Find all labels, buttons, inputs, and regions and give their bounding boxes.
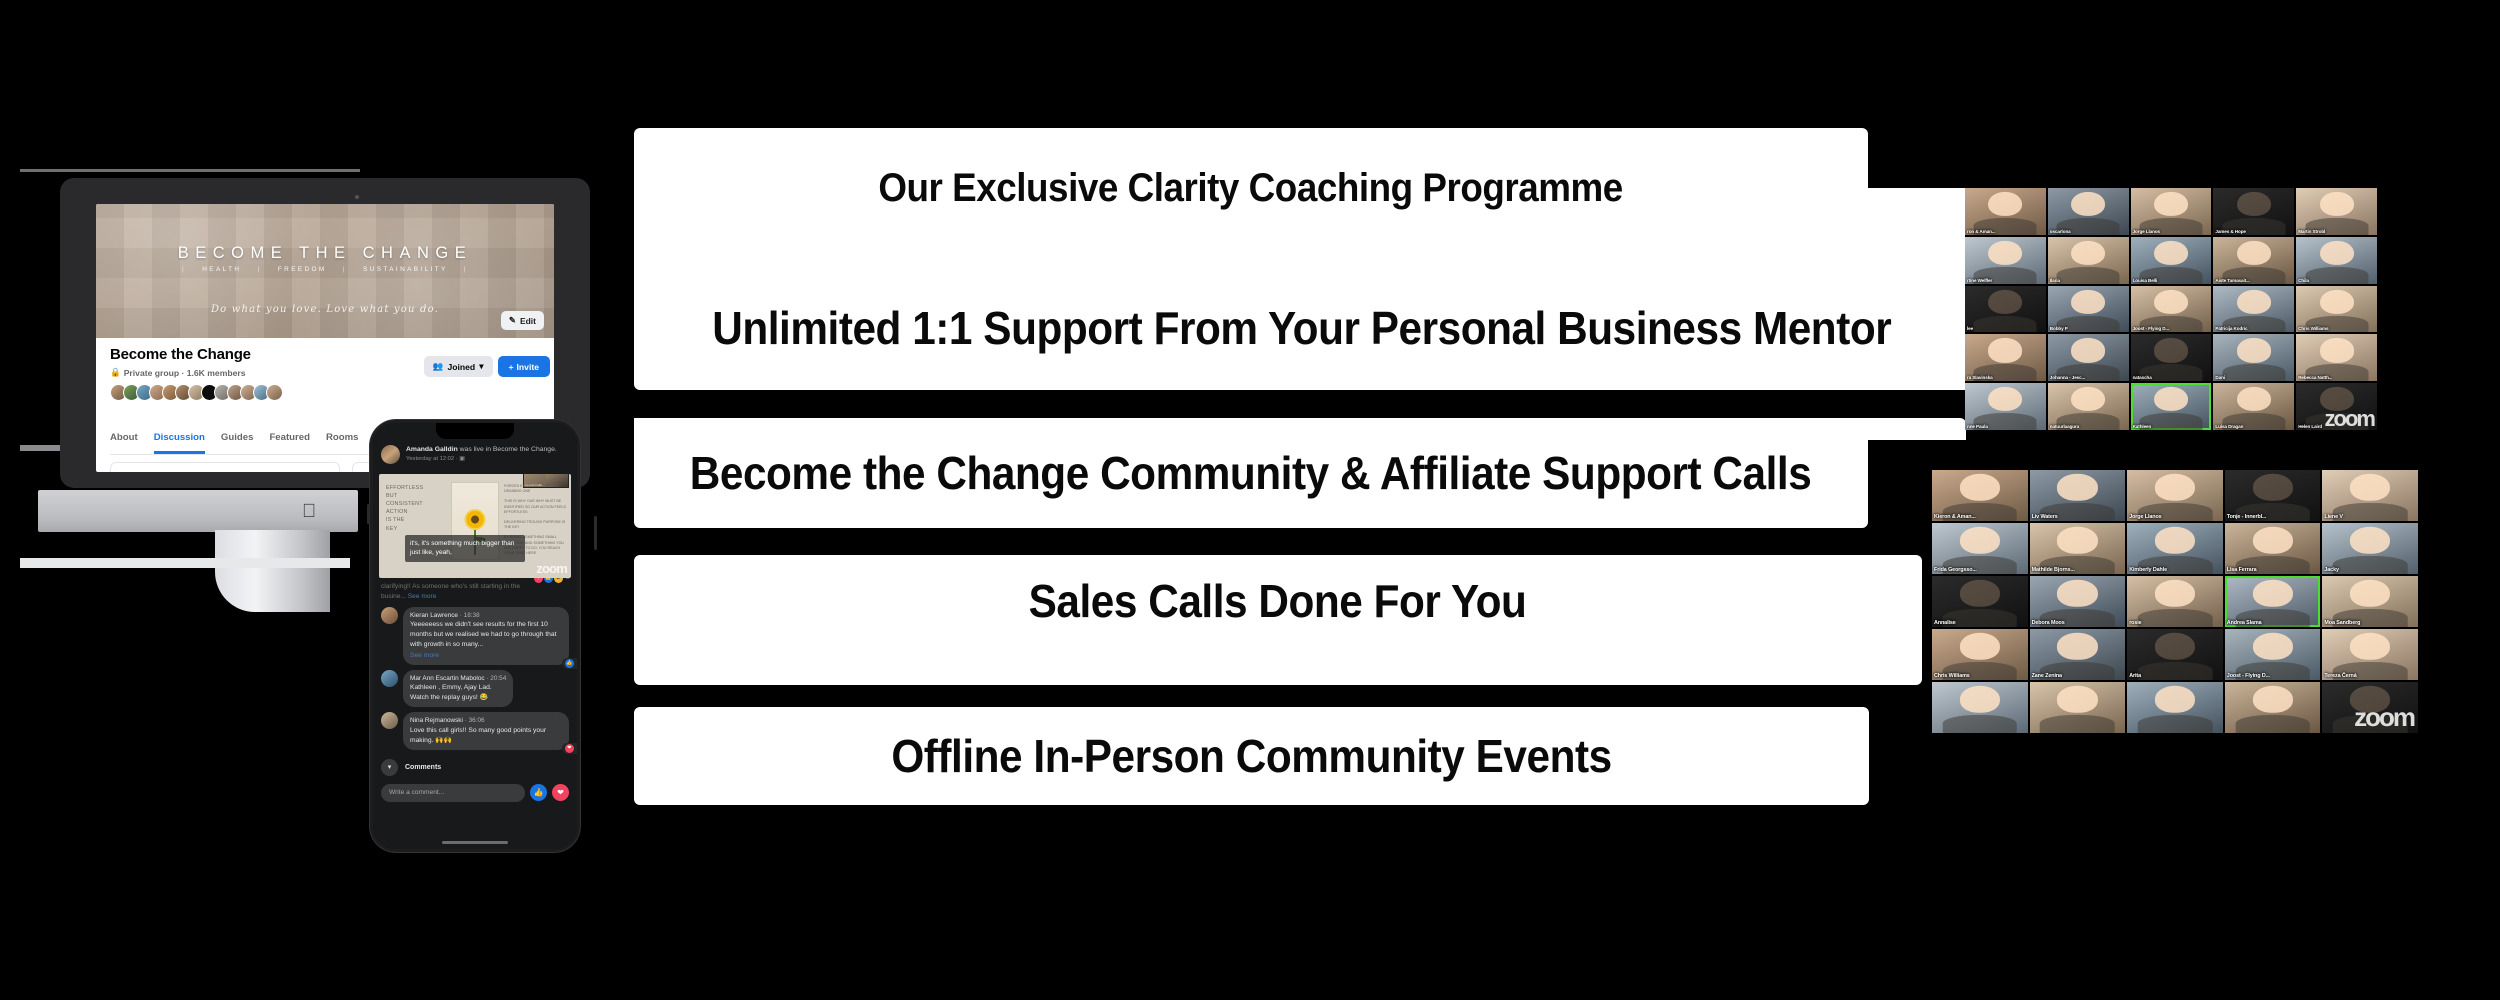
participant-video (1960, 474, 2000, 501)
zoom-participant-tile[interactable]: Frida Georgsso... (1932, 523, 2028, 574)
zoom-participant-tile[interactable]: Lisa Ferrara (2225, 523, 2321, 574)
feature-card-3-label: Become the Change Community & Affiliate … (690, 446, 1812, 500)
edit-cover-button[interactable]: ✎ Edit (501, 311, 544, 330)
zoom-participant-tile[interactable]: Moa Sandberg (2322, 576, 2418, 627)
power-button[interactable] (594, 516, 597, 550)
participant-name: Andrea Slama (2227, 620, 2262, 626)
joined-label: Joined (447, 362, 475, 372)
participant-torso (1974, 316, 2037, 333)
participant-video (2253, 580, 2293, 607)
participant-name: Debora Moos (2032, 620, 2065, 626)
participant-video (2320, 289, 2354, 313)
participant-video (1988, 387, 2022, 411)
reaction-pill[interactable]: 👍2 (562, 658, 577, 669)
zoom-participant-tile[interactable]: oscarlona (2048, 188, 2129, 235)
avatar[interactable] (381, 607, 398, 624)
participant-torso (2138, 662, 2213, 680)
zoom-participant-tile[interactable]: Kieron & Aman... (1932, 470, 2028, 521)
participant-video (2057, 580, 2097, 607)
zoom-participant-tile[interactable]: ra Slavinska (1965, 334, 2046, 381)
reaction-pill[interactable]: ❤1 (562, 743, 577, 754)
participant-name: James & Hope (2215, 229, 2245, 234)
participant-video (1988, 289, 2022, 313)
participant-video (2071, 192, 2105, 216)
comment-text: Yeeeeeess we didn't see results for the … (410, 620, 562, 650)
heart-icon[interactable]: ❤ (552, 784, 569, 801)
post-composer[interactable] (110, 462, 340, 472)
comment-item: Kieran Lawrence · 18:38 Yeeeeeess we did… (373, 602, 577, 665)
participant-video (2057, 686, 2097, 713)
participant-name: Joost - Flying D... (2227, 673, 2270, 679)
post-video[interactable]: Amanda Galld... EFFORTLESS BUT CONSISTEN… (379, 474, 571, 578)
comment-composer: Write a comment... 👍 ❤ (373, 780, 577, 806)
volume-button[interactable] (367, 504, 370, 524)
feature-card-3-textwrap: Become the Change Community & Affiliate … (634, 418, 1868, 528)
video-caption: it's, it's something much bigger than ju… (405, 535, 525, 562)
promo-composite: BECOME THE CHANGE | HEALTH | FREEDOM | S… (0, 0, 2500, 1000)
divider: | (182, 266, 186, 273)
comment-time: · 18:38 (460, 612, 480, 619)
zoom-participant-tile[interactable]: natuurlaagura (2048, 383, 2129, 430)
zoom-participant-tile[interactable]: Luisa Dragan (2213, 383, 2294, 430)
see-more-link[interactable]: See more (408, 593, 437, 600)
zoom-participant-tile[interactable] (2127, 682, 2223, 733)
zoom-watermark: zoom (536, 561, 567, 576)
zoom-participant-tile[interactable]: Chila (2296, 237, 2377, 284)
participant-name: Rebecca Natth... (2298, 375, 2332, 380)
participant-name: Ilaria (2050, 278, 2060, 283)
zoom-participant-tile[interactable]: rtine Welfler (1965, 237, 2046, 284)
participant-video (2057, 527, 2097, 554)
participant-video (2253, 686, 2293, 713)
avatar[interactable] (381, 670, 398, 687)
zoom-participant-tile[interactable]: Patricija Kodric (2213, 286, 2294, 333)
zoom-participant-tile[interactable]: Debora Moos (2030, 576, 2126, 627)
zoom-participant-tile[interactable] (2225, 682, 2321, 733)
zoom-grid-bottom: Kieron & Aman...Liv WatersJorge LlanosTo… (1932, 470, 2418, 733)
avatar[interactable] (381, 712, 398, 729)
divider: | (343, 266, 347, 273)
zoom-participant-tile[interactable]: Jorge Llanos (2127, 470, 2223, 521)
participant-name: lee (1967, 326, 1973, 331)
participant-video (1960, 580, 2000, 607)
slide-right-line-1: THIS IS WHY OUR WHY MUST BE IDENTIFIED S… (504, 499, 566, 515)
post-action: was live in Become the Change. (458, 446, 557, 453)
tab-about[interactable]: About (110, 432, 138, 454)
facebook-post-screen: Amanda Galldin was live in Become the Ch… (373, 423, 577, 849)
participant-name: Annalise (1934, 620, 1956, 626)
zoom-participant-tile[interactable]: nne Paula (1965, 383, 2046, 430)
participant-video (2155, 686, 2195, 713)
zoom-participant-tile[interactable]: Liv Waters (2030, 470, 2126, 521)
slide-right-line-0: FORCED ENERGY IS THE MOST DRAINING ONE (504, 484, 566, 494)
zoom-watermark: zoom (2354, 702, 2414, 733)
participant-video (2350, 633, 2390, 660)
people-icon: 👥 (433, 361, 444, 372)
participant-name: Tereza Černá (2324, 673, 2356, 679)
participant-name: natascha (2133, 375, 2152, 380)
participant-video (2320, 338, 2354, 362)
cover-pillar-2: SUSTAINABILITY (363, 266, 448, 273)
participant-name: Jorge Llanos (2129, 514, 2161, 520)
cover-pillar-0: HEALTH (202, 266, 241, 273)
lock-icon: 🔒 (110, 367, 121, 378)
divider: | (258, 266, 262, 273)
apple-logo-icon:  (302, 502, 316, 521)
post-time-text: Yesterday at 12:02 · (406, 456, 458, 462)
participant-name: ron & Aman... (1967, 229, 1995, 234)
participant-video (2057, 633, 2097, 660)
cover-tagline: Do what you love. Love what you do. (96, 304, 554, 315)
zoom-participant-tile[interactable]: Arita (2127, 629, 2223, 680)
feature-card-5-textwrap: Offline In-Person Community Events (634, 707, 1869, 805)
participant-video (2155, 474, 2195, 501)
participant-torso (2235, 715, 2310, 733)
participant-name: Frida Georgsso... (1934, 567, 1977, 573)
divider: | (464, 266, 468, 273)
feature-card-2-textwrap: Unlimited 1:1 Support From Your Personal… (634, 268, 1970, 388)
faded-comment-text: clarifying!! As someone who's still star… (381, 583, 520, 600)
tab-featured[interactable]: Featured (269, 432, 310, 454)
sunflower-icon (465, 509, 486, 530)
slide-left-text: EFFORTLESS BUT CONSISTENT ACTION IS THE … (386, 484, 423, 533)
participant-video (1960, 527, 2000, 554)
zoom-participant-tile[interactable]: Louisa Belli (2131, 237, 2212, 284)
zoom-participant-tile[interactable]: Jacky (2322, 523, 2418, 574)
participant-video (2071, 241, 2105, 265)
participant-name: Helen Laird (2298, 424, 2322, 429)
participant-torso (2138, 609, 2213, 627)
participant-video (1988, 338, 2022, 362)
zoom-participant-tile[interactable]: lee (1965, 286, 2046, 333)
avatar (266, 384, 283, 401)
chevron-down-icon: ▾ (381, 759, 398, 776)
zoom-participant-tile[interactable]: Liene V (2322, 470, 2418, 521)
audience-icon: ▣ (459, 456, 464, 462)
thumbs-up-icon: 👍 (565, 659, 574, 668)
participant-torso (1943, 715, 2018, 733)
comment-input[interactable]: Write a comment... (381, 784, 525, 802)
chevron-down-icon: ▾ (479, 361, 483, 372)
participant-name: Mathilde Bjorns... (2032, 567, 2075, 573)
participant-name: Joost - Flying D... (2133, 326, 2169, 331)
comment-author[interactable]: Nina Rejmanowski · 36:06 (410, 716, 562, 726)
participant-name: Louisa Belli (2133, 278, 2158, 283)
participant-video (1988, 192, 2022, 216)
zoom-participant-tile[interactable]: Annalise (1932, 576, 2028, 627)
faded-comment: ❤👍😂6 clarifying!! As someone who's still… (373, 578, 577, 602)
participant-video (2320, 192, 2354, 216)
participant-video (2154, 289, 2188, 313)
post-timestamp: Yesterday at 12:02 · ▣ (406, 456, 557, 462)
participant-video (2350, 527, 2390, 554)
see-more-link[interactable]: See more (410, 651, 562, 661)
zoom-participant-tile[interactable]: Tonje - Innerbl... (2225, 470, 2321, 521)
zoom-participant-tile[interactable]: Ilaria (2048, 237, 2129, 284)
participant-name: Zane Zenina (2032, 673, 2062, 679)
zoom-participant-tile[interactable] (1932, 682, 2028, 733)
invite-label: Invite (517, 362, 539, 372)
participant-video (2253, 633, 2293, 660)
comment-item: Mar Ann Escartin Maboloc · 20:54 Kathlee… (373, 665, 577, 708)
participant-name: Liv Waters (2032, 514, 2058, 520)
zoom-participant-tile[interactable]: Bobby P (2048, 286, 2129, 333)
participant-torso (2040, 715, 2115, 733)
comment-bubble: Nina Rejmanowski · 36:06 Love this call … (403, 712, 569, 750)
participant-name: Lisa Ferrara (2227, 567, 2257, 573)
zoom-watermark: zoom (2325, 406, 2374, 432)
comment-author-name: Kieran Lawrence (410, 612, 458, 619)
imac-stand (215, 530, 330, 612)
participant-torso (2305, 267, 2368, 284)
zoom-participant-tile[interactable]: natascha (2131, 334, 2212, 381)
comment-author-name: Mar Ann Escartin Maboloc (410, 675, 485, 682)
zoom-participant-tile[interactable]: Kimberly Dahle (2127, 523, 2223, 574)
zoom-participant-tile[interactable]: Joost - Flying D... (2131, 286, 2212, 333)
participant-name: Martin Strobl (2298, 229, 2325, 234)
participant-video (2237, 289, 2271, 313)
comment-time: · 36:06 (465, 717, 485, 724)
participant-name: Dani (2215, 375, 2225, 380)
participant-name: nne Paula (1967, 424, 1988, 429)
participant-video (2350, 580, 2390, 607)
feature-card-1-textwrap: Our Exclusive Clarity Coaching Programme (634, 128, 1868, 248)
participant-video (2237, 338, 2271, 362)
avatar[interactable] (381, 445, 400, 464)
participant-video (2155, 527, 2195, 554)
joined-button[interactable]: 👥 Joined ▾ (424, 356, 493, 377)
zoom-participant-tile[interactable]: Johanna - Jesc... (2048, 334, 2129, 381)
zoom-participant-tile[interactable]: rosie (2127, 576, 2223, 627)
comment-text: Love this call girls!! So many good poin… (410, 726, 562, 746)
zoom-participant-tile[interactable]: Andrea Slama (2225, 576, 2321, 627)
participant-video (1960, 686, 2000, 713)
participant-name: Chris Williams (1934, 673, 1970, 679)
participant-name: Kieron & Aman... (1934, 514, 1976, 520)
participant-name: Bobby P (2050, 326, 2068, 331)
group-meta-text: Private group · 1.6K members (124, 368, 246, 378)
cover-pillar-1: FREEDOM (278, 266, 327, 273)
tab-guides[interactable]: Guides (221, 432, 254, 454)
comment-text: Kathleen , Emmy, Ajay Lad. Watch the rep… (410, 683, 506, 703)
comments-toggle[interactable]: ▾ Comments (373, 750, 577, 780)
cover-title: BECOME THE CHANGE (96, 244, 554, 263)
feature-card-4-textwrap: Sales Calls Done For You (634, 555, 1922, 647)
group-actions: 👥 Joined ▾ + Invite (424, 356, 550, 377)
zoom-participant-tile[interactable]: ron & Aman... (1965, 188, 2046, 235)
participant-name: Kathleen (2133, 424, 2152, 429)
pencil-icon: ✎ (509, 315, 516, 326)
comments-label: Comments (405, 764, 441, 771)
participant-video (2154, 241, 2188, 265)
participant-video (2071, 387, 2105, 411)
participant-video (2237, 241, 2271, 265)
participant-video (2155, 580, 2195, 607)
participant-video (2320, 241, 2354, 265)
participant-torso (2222, 364, 2285, 381)
participant-video (2237, 192, 2271, 216)
zoom-participant-tile[interactable]: Jorge Llanos (2131, 188, 2212, 235)
feature-card-4-label: Sales Calls Done For You (1029, 574, 1527, 628)
participant-name: Chris Williams (2298, 326, 2328, 331)
participant-video (2155, 633, 2195, 660)
thumbs-up-icon[interactable]: 👍 (530, 784, 547, 801)
participant-torso (2333, 503, 2408, 521)
cover-pillars: | HEALTH | FREEDOM | SUSTAINABILITY | (96, 266, 554, 273)
participant-name: Liene V (2324, 514, 2342, 520)
participant-torso (2333, 556, 2408, 574)
zoom-participant-tile[interactable]: Chris Williams (1932, 629, 2028, 680)
zoom-participant-tile[interactable]: Kathleen (2131, 383, 2212, 430)
zoom-participant-tile[interactable]: Mathilde Bjorns... (2030, 523, 2126, 574)
imac-stand-base (20, 558, 350, 568)
zoom-participant-tile[interactable]: Rebecca Natth... (2296, 334, 2377, 381)
zoom-participant-tile[interactable]: Martin Strobl (2296, 188, 2377, 235)
group-cover-photo: BECOME THE CHANGE | HEALTH | FREEDOM | S… (96, 204, 554, 338)
zoom-participant-tile[interactable]: James & Hope (2213, 188, 2294, 235)
plus-icon: + (509, 362, 514, 372)
participant-name: Moa Sandberg (2324, 620, 2360, 626)
participant-name: Arita (2129, 673, 2141, 679)
participant-torso (2057, 267, 2120, 284)
heart-icon: ❤ (565, 744, 574, 753)
participant-name: rosie (2129, 620, 2141, 626)
zoom-participant-tile[interactable]: Joost - Flying D... (2225, 629, 2321, 680)
invite-button[interactable]: + Invite (498, 356, 550, 377)
zoom-participant-tile[interactable]: Chris Williams (2296, 286, 2377, 333)
participant-video (2154, 387, 2188, 411)
phone-frame: Amanda Galldin was live in Become the Ch… (370, 420, 580, 852)
participant-torso (2138, 715, 2213, 733)
participant-name: Jacky (2324, 567, 2339, 573)
feature-card-1-label: Our Exclusive Clarity Coaching Programme (879, 166, 1623, 211)
participant-video (1960, 633, 2000, 660)
participant-name: Patricija Kodric (2215, 326, 2247, 331)
participant-name: Luisa Dragan (2215, 424, 2243, 429)
participant-video (2071, 289, 2105, 313)
zoom-participant-tile[interactable]: Tereza Černá (2322, 629, 2418, 680)
edit-cover-label: Edit (520, 316, 536, 326)
phone-notch (436, 423, 514, 439)
desk-line (20, 169, 360, 172)
participant-video (2071, 338, 2105, 362)
comment-author-name: Nina Rejmanowski (410, 717, 463, 724)
comment-item: Nina Rejmanowski · 36:06 Love this call … (373, 707, 577, 750)
participant-video (2237, 387, 2271, 411)
participant-video (2253, 474, 2293, 501)
post-byline: Amanda Galldin was live in Become the Ch… (406, 445, 557, 454)
participant-name: Jorge Llanos (2133, 229, 2160, 234)
tab-rooms[interactable]: Rooms (326, 432, 359, 454)
participant-video (2350, 474, 2390, 501)
participant-name: Kimberly Dahle (2129, 567, 2167, 573)
participant-name: rtine Welfler (1967, 278, 1992, 283)
comment-author[interactable]: Mar Ann Escartin Maboloc · 20:54 (410, 674, 506, 684)
participant-name: Johanna - Jesc... (2050, 375, 2085, 380)
participant-video (2057, 474, 2097, 501)
zoom-participant-tile[interactable]: Dani (2213, 334, 2294, 381)
feature-card-2-label: Unlimited 1:1 Support From Your Personal… (713, 301, 1892, 355)
comment-time: · 20:54 (486, 675, 506, 682)
participant-name: natuurlaagura (2050, 424, 2079, 429)
participant-video (2154, 338, 2188, 362)
zoom-participant-tile[interactable] (2030, 682, 2126, 733)
zoom-grid-top: ron & Aman...oscarlonaJorge LlanosJames … (1965, 188, 2377, 430)
feature-card-5-label: Offline In-Person Community Events (891, 729, 1611, 783)
comment-author[interactable]: Kieran Lawrence · 18:38 (410, 611, 562, 621)
phone-mockup: Amanda Galldin was live in Become the Ch… (370, 420, 594, 860)
zoom-participant-tile[interactable]: Aiste Tamasait... (2213, 237, 2294, 284)
post-author[interactable]: Amanda Galldin (406, 446, 458, 453)
zoom-participant-tile[interactable]: Zane Zenina (2030, 629, 2126, 680)
tab-discussion[interactable]: Discussion (154, 432, 205, 454)
participant-video (2253, 527, 2293, 554)
home-indicator (442, 841, 508, 844)
participant-name: oscarlona (2050, 229, 2071, 234)
participant-name: Aiste Tamasait... (2215, 278, 2249, 283)
participant-name: Tonje - Innerbl... (2227, 514, 2266, 520)
participant-name: ra Slavinska (1967, 375, 1993, 380)
comment-bubble: Mar Ann Escartin Maboloc · 20:54 Kathlee… (403, 670, 513, 708)
participant-video (1988, 241, 2022, 265)
webcam-icon (355, 195, 359, 199)
participant-name: Chila (2298, 278, 2309, 283)
comment-bubble: Kieran Lawrence · 18:38 Yeeeeeess we did… (403, 607, 569, 665)
slide-right-line-2: DELIVERING TROUGH PURPOSE IS THE KEY (504, 520, 566, 530)
participant-video (2154, 192, 2188, 216)
member-avatars[interactable] (110, 384, 544, 401)
